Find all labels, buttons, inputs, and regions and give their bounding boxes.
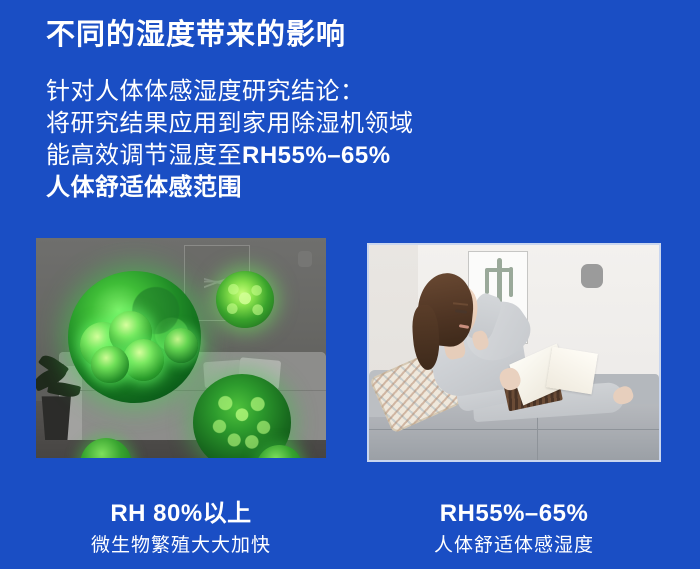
photo-comfort-humidity: [367, 243, 661, 462]
germ-virus-top-icon: [216, 271, 274, 328]
caption-high-humidity: RH 80%以上 微生物繁殖大大加快: [36, 500, 326, 559]
intro-line-3: 能高效调节湿度至RH55%–65%: [46, 140, 414, 172]
caption-right-sub: 人体舒适体感湿度: [367, 533, 661, 559]
intro-paragraph: 针对人体体感湿度研究结论： 将研究结果应用到家用除湿机领域 能高效调节湿度至RH…: [46, 76, 414, 204]
intro-line-3-highlight: RH55%–65%: [242, 142, 391, 169]
poster-root: 不同的湿度带来的影响 针对人体体感湿度研究结论： 将研究结果应用到家用除湿机领域…: [0, 0, 700, 569]
wall-sensor-icon: [298, 251, 312, 267]
book-page-right: [546, 347, 598, 395]
wall-speaker-icon: [581, 264, 603, 288]
cactus-branch: [485, 268, 511, 272]
intro-line-3-regular: 能高效调节湿度至: [46, 142, 242, 169]
intro-line-4: 人体舒适体感范围: [46, 172, 414, 204]
intro-line-1: 针对人体体感湿度研究结论：: [46, 76, 414, 108]
page-title: 不同的湿度带来的影响: [46, 16, 346, 54]
caption-left-main: RH 80%以上: [36, 500, 326, 528]
cactus-arm-left: [485, 269, 489, 295]
caption-comfort-humidity: RH55%–65% 人体舒适体感湿度: [367, 500, 661, 559]
intro-line-2: 将研究结果应用到家用除湿机领域: [46, 108, 414, 140]
photo-high-humidity: [36, 238, 326, 458]
caption-left-sub: 微生物繁殖大大加快: [36, 533, 326, 559]
caption-right-main: RH55%–65%: [367, 500, 661, 528]
germ-bubble-icon: [123, 339, 164, 381]
germ-bubble-icon: [91, 346, 129, 383]
light-sofa-seam: [369, 429, 659, 430]
